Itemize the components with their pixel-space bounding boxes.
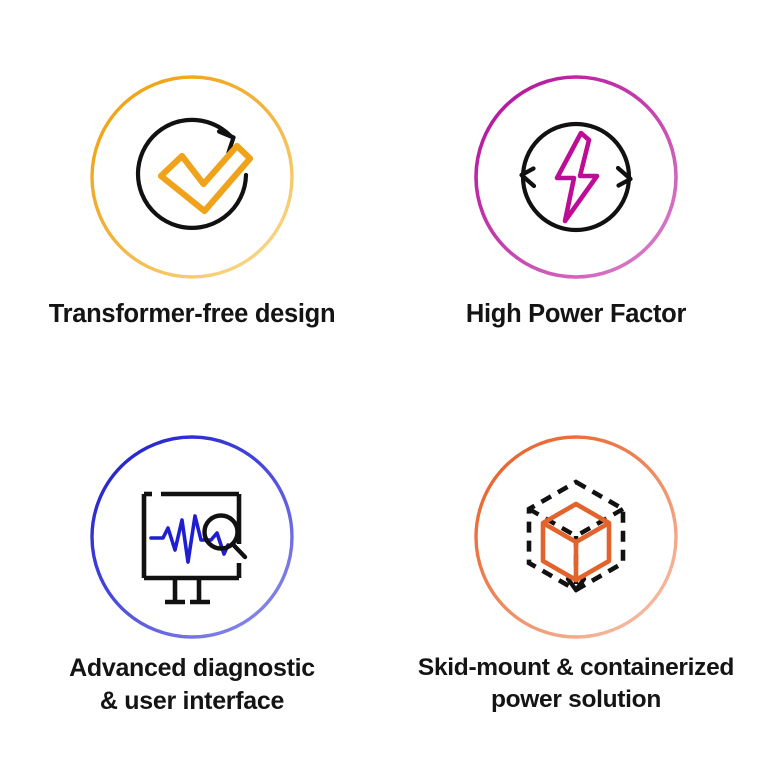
feature-label-high-power-factor: High Power Factor [466, 298, 686, 332]
feature-label-skid-mount: Skid-mount & containerized power solutio… [418, 652, 734, 717]
dashed-hexagon-cube-icon [471, 432, 681, 642]
feature-card-transformer-free-design: Transformer-free design [0, 0, 384, 384]
feature-card-advanced-diagnostic: Advanced diagnostic & user interface [0, 384, 384, 768]
lightning-bolt-refresh-icon [471, 72, 681, 282]
check-circle-refresh-icon [87, 72, 297, 282]
feature-label-advanced-diagnostic: Advanced diagnostic & user interface [69, 652, 315, 718]
feature-label-transformer-free-design: Transformer-free design [49, 298, 335, 332]
feature-card-skid-mount: Skid-mount & containerized power solutio… [384, 384, 768, 768]
monitor-waveform-magnifier-icon [87, 432, 297, 642]
feature-card-high-power-factor: High Power Factor [384, 0, 768, 384]
feature-grid: Transformer-free design [0, 0, 768, 768]
